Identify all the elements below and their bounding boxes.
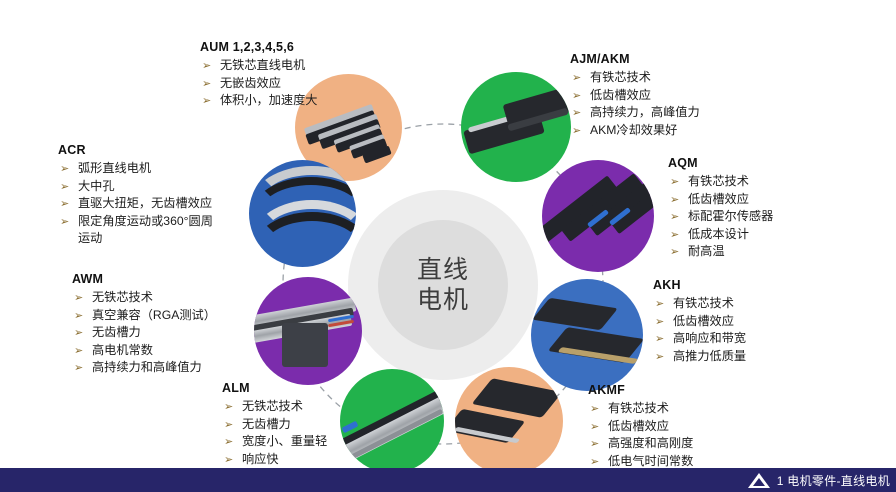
awm-item-3: 高电机常数: [92, 343, 153, 357]
akh-title: AKH: [653, 278, 746, 292]
list-item: ➢高电机常数: [72, 342, 216, 360]
awm-product-image: [254, 277, 362, 385]
bullet-arrow-icon: ➢: [590, 435, 599, 453]
list-item: ➢无铁芯直线电机: [200, 57, 318, 75]
alm-item-2: 宽度小、重量轻: [242, 434, 327, 448]
bullet-arrow-icon: ➢: [572, 69, 581, 87]
list-item: ➢高强度和高刚度: [588, 435, 693, 453]
bullet-arrow-icon: ➢: [74, 307, 83, 325]
ajm-title: AJM/AKM: [570, 52, 700, 66]
bullet-arrow-icon: ➢: [655, 348, 664, 366]
acr-item-3-cont: 运动: [78, 231, 102, 245]
list-item: ➢有铁芯技术: [588, 400, 693, 418]
bullet-arrow-icon: ➢: [60, 195, 69, 213]
bullet-arrow-icon: ➢: [202, 57, 211, 75]
text-block-akh: AKH ➢有铁芯技术 ➢低齿槽效应 ➢高响应和带宽 ➢高推力低质量: [653, 278, 746, 365]
acr-item-2: 直驱大扭矩，无齿槽效应: [78, 196, 212, 210]
list-item: ➢直驱大扭矩，无齿槽效应: [58, 195, 213, 213]
bullet-arrow-icon: ➢: [670, 173, 679, 191]
bullet-arrow-icon: ➢: [74, 342, 83, 360]
list-item: ➢弧形直线电机: [58, 160, 213, 178]
akmf-item-1: 低齿槽效应: [608, 419, 669, 433]
bullet-arrow-icon: ➢: [202, 75, 211, 93]
node-circle-akmf[interactable]: [455, 367, 563, 475]
list-item: ➢低成本设计: [668, 226, 773, 244]
list-item: ➢低齿槽效应: [570, 87, 700, 105]
awm-item-1: 真空兼容（RGA测试）: [92, 308, 216, 322]
awm-item-2: 无齿槽力: [92, 325, 141, 339]
text-block-acr: ACR ➢弧形直线电机 ➢大中孔 ➢直驱大扭矩，无齿槽效应 ➢限定角度运动或36…: [58, 143, 213, 248]
bullet-arrow-icon: ➢: [655, 330, 664, 348]
acr-feature-list: ➢弧形直线电机 ➢大中孔 ➢直驱大扭矩，无齿槽效应 ➢限定角度运动或360°圆周…: [58, 160, 213, 248]
aqm-item-3: 低成本设计: [688, 227, 749, 241]
alm-title: ALM: [222, 381, 327, 395]
akh-item-1: 低齿槽效应: [673, 314, 734, 328]
list-item: ➢无齿槽力: [222, 416, 327, 434]
alm-feature-list: ➢无铁芯技术 ➢无齿槽力 ➢宽度小、重量轻 ➢响应快: [222, 398, 327, 468]
awm-feature-list: ➢无铁芯技术 ➢真空兼容（RGA测试） ➢无齿槽力 ➢高电机常数 ➢高持续力和高…: [72, 289, 216, 377]
list-item: ➢大中孔: [58, 178, 213, 196]
node-circle-acr[interactable]: [249, 160, 356, 267]
acr-title: ACR: [58, 143, 213, 157]
bullet-arrow-icon: ➢: [590, 418, 599, 436]
akh-item-2: 高响应和带宽: [673, 331, 746, 345]
acr-item-1: 大中孔: [78, 179, 115, 193]
list-item: ➢体积小，加速度大: [200, 92, 318, 110]
list-item: ➢高持续力和高峰值力: [72, 359, 216, 377]
aum-title: AUM 1,2,3,4,5,6: [200, 40, 318, 54]
triangle-logo-icon: [748, 473, 770, 488]
aqm-item-1: 低齿槽效应: [688, 192, 749, 206]
list-item: ➢无铁芯技术: [72, 289, 216, 307]
text-block-akmf: AKMF ➢有铁芯技术 ➢低齿槽效应 ➢高强度和高刚度 ➢低电气时间常数: [588, 383, 693, 470]
list-item: ➢真空兼容（RGA测试）: [72, 307, 216, 325]
bullet-arrow-icon: ➢: [655, 295, 664, 313]
list-item: ➢AKM冷却效果好: [570, 122, 700, 140]
list-item: ➢无齿槽力: [72, 324, 216, 342]
aqm-item-0: 有铁芯技术: [688, 174, 749, 188]
aum-item-0: 无铁芯直线电机: [220, 58, 305, 72]
bullet-arrow-icon: ➢: [224, 433, 233, 451]
bullet-arrow-icon: ➢: [572, 122, 581, 140]
center-hub: 直线 电机: [378, 220, 508, 350]
aum-item-2: 体积小，加速度大: [220, 93, 318, 107]
alm-item-1: 无齿槽力: [242, 417, 291, 431]
bullet-arrow-icon: ➢: [670, 226, 679, 244]
list-item: ➢有铁芯技术: [570, 69, 700, 87]
aqm-feature-list: ➢有铁芯技术 ➢低齿槽效应 ➢标配霍尔传感器 ➢低成本设计 ➢耐高温: [668, 173, 773, 261]
text-block-alm: ALM ➢无铁芯技术 ➢无齿槽力 ➢宽度小、重量轻 ➢响应快: [222, 381, 327, 468]
aum-feature-list: ➢无铁芯直线电机 ➢无嵌齿效应 ➢体积小，加速度大: [200, 57, 318, 110]
akh-item-0: 有铁芯技术: [673, 296, 734, 310]
center-label-line2: 电机: [417, 285, 469, 315]
bullet-arrow-icon: ➢: [224, 398, 233, 416]
awm-title: AWM: [72, 272, 216, 286]
aqm-item-2: 标配霍尔传感器: [688, 209, 773, 223]
awm-item-0: 无铁芯技术: [92, 290, 153, 304]
bullet-arrow-icon: ➢: [60, 178, 69, 196]
bullet-arrow-icon: ➢: [590, 400, 599, 418]
list-item: ➢有铁芯技术: [668, 173, 773, 191]
alm-item-0: 无铁芯技术: [242, 399, 303, 413]
alm-item-3: 响应快: [242, 452, 279, 466]
bullet-arrow-icon: ➢: [572, 87, 581, 105]
bullet-arrow-icon: ➢: [60, 160, 69, 178]
list-item: ➢低齿槽效应: [668, 191, 773, 209]
akmf-item-3: 低电气时间常数: [608, 454, 693, 468]
list-item: ➢标配霍尔传感器: [668, 208, 773, 226]
text-block-aum: AUM 1,2,3,4,5,6 ➢无铁芯直线电机 ➢无嵌齿效应 ➢体积小，加速度…: [200, 40, 318, 110]
list-item: ➢无铁芯技术: [222, 398, 327, 416]
list-item: ➢高持续力，高峰值力: [570, 104, 700, 122]
aqm-product-image: [542, 160, 654, 272]
bullet-arrow-icon: ➢: [655, 313, 664, 331]
bullet-arrow-icon: ➢: [202, 92, 211, 110]
list-item: ➢低齿槽效应: [653, 313, 746, 331]
list-item: ➢高响应和带宽: [653, 330, 746, 348]
list-item: ➢响应快: [222, 451, 327, 469]
bullet-arrow-icon: ➢: [74, 359, 83, 377]
text-block-aqm: AQM ➢有铁芯技术 ➢低齿槽效应 ➢标配霍尔传感器 ➢低成本设计 ➢耐高温: [668, 156, 773, 261]
ajm-item-1: 低齿槽效应: [590, 88, 651, 102]
node-circle-aqm[interactable]: [542, 160, 654, 272]
acr-product-image: [249, 160, 356, 267]
bullet-arrow-icon: ➢: [74, 289, 83, 307]
list-item: ➢有铁芯技术: [653, 295, 746, 313]
text-block-ajm: AJM/AKM ➢有铁芯技术 ➢低齿槽效应 ➢高持续力，高峰值力 ➢AKM冷却效…: [570, 52, 700, 139]
bullet-arrow-icon: ➢: [224, 416, 233, 434]
acr-item-0: 弧形直线电机: [78, 161, 151, 175]
aum-item-1: 无嵌齿效应: [220, 76, 281, 90]
bullet-arrow-icon: ➢: [670, 191, 679, 209]
slide-canvas: 直线 电机: [0, 0, 896, 492]
akmf-item-0: 有铁芯技术: [608, 401, 669, 415]
node-circle-awm[interactable]: [254, 277, 362, 385]
akmf-title: AKMF: [588, 383, 693, 397]
footer-content: 1 电机零件-直线电机: [748, 468, 890, 492]
bullet-arrow-icon: ➢: [670, 243, 679, 261]
ajm-feature-list: ➢有铁芯技术 ➢低齿槽效应 ➢高持续力，高峰值力 ➢AKM冷却效果好: [570, 69, 700, 139]
akh-item-3: 高推力低质量: [673, 349, 746, 363]
aqm-title: AQM: [668, 156, 773, 170]
akmf-feature-list: ➢有铁芯技术 ➢低齿槽效应 ➢高强度和高刚度 ➢低电气时间常数: [588, 400, 693, 470]
list-item: ➢高推力低质量: [653, 348, 746, 366]
text-block-awm: AWM ➢无铁芯技术 ➢真空兼容（RGA测试） ➢无齿槽力 ➢高电机常数 ➢高持…: [72, 272, 216, 377]
akmf-product-image: [455, 367, 563, 475]
bullet-arrow-icon: ➢: [572, 104, 581, 122]
acr-item-3: 限定角度运动或360°圆周: [78, 214, 213, 228]
bullet-arrow-icon: ➢: [670, 208, 679, 226]
bullet-arrow-icon: ➢: [74, 324, 83, 342]
center-label-line1: 直线: [417, 255, 469, 285]
ajm-item-2: 高持续力，高峰值力: [590, 105, 700, 119]
akmf-item-2: 高强度和高刚度: [608, 436, 693, 450]
list-item: ➢限定角度运动或360°圆周: [58, 213, 213, 231]
bullet-arrow-icon: ➢: [60, 213, 69, 231]
ajm-item-0: 有铁芯技术: [590, 70, 651, 84]
ajm-item-3: AKM冷却效果好: [590, 123, 677, 137]
list-item: ➢无嵌齿效应: [200, 75, 318, 93]
awm-item-4: 高持续力和高峰值力: [92, 360, 202, 374]
list-item: ➢耐高温: [668, 243, 773, 261]
list-item: ➢宽度小、重量轻: [222, 433, 327, 451]
list-item-continuation: 运动: [58, 230, 213, 248]
akh-feature-list: ➢有铁芯技术 ➢低齿槽效应 ➢高响应和带宽 ➢高推力低质量: [653, 295, 746, 365]
bullet-arrow-icon: ➢: [224, 451, 233, 469]
aqm-item-4: 耐高温: [688, 244, 725, 258]
list-item: ➢低齿槽效应: [588, 418, 693, 436]
footer-bar: 1 电机零件-直线电机: [0, 468, 896, 492]
footer-label: 1 电机零件-直线电机: [777, 472, 890, 489]
